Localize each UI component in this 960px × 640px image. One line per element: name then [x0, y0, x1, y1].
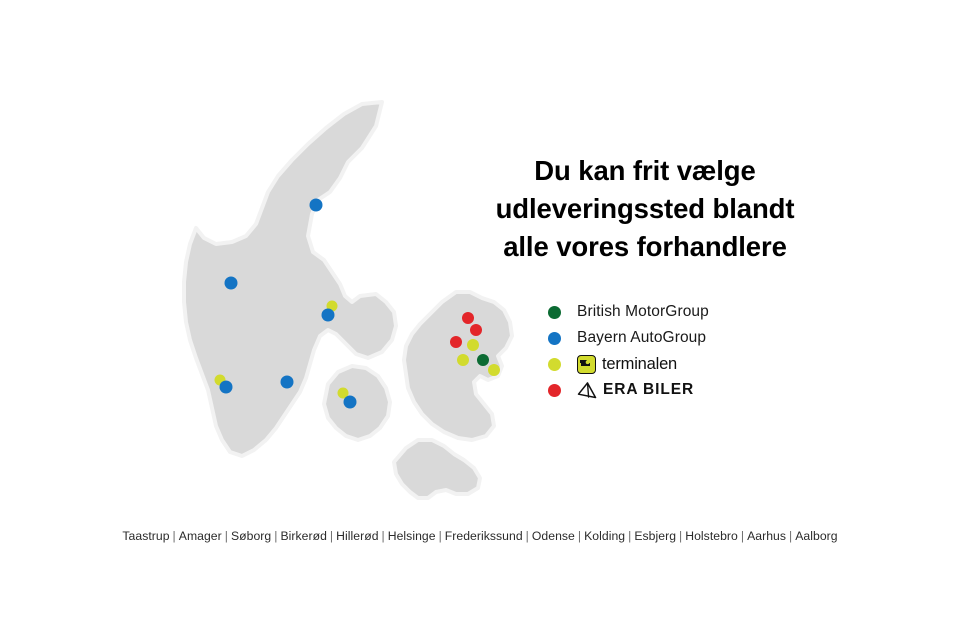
- headline-line-2: udleveringssted blandt: [470, 190, 820, 228]
- legend-item-era-biler[interactable]: ERA BILER: [548, 377, 808, 403]
- map-marker-birkeroed[interactable]: [467, 339, 479, 351]
- city-name: Helsinge: [388, 529, 436, 543]
- city-name: Holstebro: [685, 529, 738, 543]
- city-separator: |: [327, 529, 336, 543]
- legend-item-british-motorgroup[interactable]: British MotorGroup: [548, 299, 808, 325]
- headline-line-3: alle vores forhandlere: [470, 228, 820, 266]
- city-name: Taastrup: [122, 529, 169, 543]
- city-separator: |: [575, 529, 584, 543]
- map-marker-esbjerg-bayern[interactable]: [220, 381, 233, 394]
- city-name: Søborg: [231, 529, 271, 543]
- map-marker-soeborg[interactable]: [457, 354, 469, 366]
- map-marker-holstebro[interactable]: [225, 277, 238, 290]
- map-marker-amager[interactable]: [488, 364, 500, 376]
- city-name: Birkerød: [280, 529, 326, 543]
- map-marker-hilleroed[interactable]: [470, 324, 482, 336]
- legend-label-bayern-autogroup: Bayern AutoGroup: [577, 329, 706, 347]
- legend-label-british-motorgroup: British MotorGroup: [577, 303, 709, 321]
- denmark-map: [180, 96, 520, 508]
- legend-swatch-british-motorgroup: [548, 306, 561, 319]
- era-biler-wordmark: ERA BILER: [603, 381, 694, 399]
- era-biler-logo: ERA BILER: [577, 381, 694, 399]
- city-name: Esbjerg: [634, 529, 676, 543]
- city-separator: |: [523, 529, 532, 543]
- city-name: Hillerød: [336, 529, 378, 543]
- infographic-canvas: Du kan frit vælge udleveringssted blandt…: [0, 0, 960, 640]
- map-marker-helsinge[interactable]: [462, 312, 474, 324]
- landmass-lolland-falster: [394, 440, 480, 498]
- map-landmasses: [184, 102, 512, 498]
- city-name: Aalborg: [795, 529, 837, 543]
- city-separator: |: [786, 529, 795, 543]
- terminalen-mark-icon: [577, 355, 596, 374]
- headline: Du kan frit vælge udleveringssted blandt…: [470, 152, 820, 266]
- map-marker-aarhus-bayern[interactable]: [322, 309, 335, 322]
- legend-item-bayern-autogroup[interactable]: Bayern AutoGroup: [548, 325, 808, 351]
- legend-item-terminalen[interactable]: terminalen: [548, 351, 808, 377]
- terminalen-logo: terminalen: [577, 355, 677, 374]
- city-name: Amager: [179, 529, 222, 543]
- city-separator: |: [170, 529, 179, 543]
- legend-swatch-era-biler: [548, 384, 561, 397]
- era-biler-triangle-icon: [577, 382, 597, 399]
- city-separator: |: [222, 529, 231, 543]
- landmass-funen: [324, 366, 390, 440]
- city-name: Aarhus: [747, 529, 786, 543]
- map-marker-frederikssund[interactable]: [450, 336, 462, 348]
- city-separator: |: [625, 529, 634, 543]
- map-marker-taastrup[interactable]: [477, 354, 489, 366]
- map-marker-aalborg[interactable]: [310, 199, 323, 212]
- city-list: Taastrup|Amager|Søborg|Birkerød|Hillerød…: [0, 529, 960, 543]
- map-marker-kolding[interactable]: [281, 376, 294, 389]
- legend-swatch-terminalen: [548, 358, 561, 371]
- brand-legend: British MotorGroup Bayern AutoGroup term…: [548, 299, 808, 403]
- map-marker-odense-bayern[interactable]: [344, 396, 357, 409]
- city-name: Kolding: [584, 529, 625, 543]
- city-name: Frederikssund: [445, 529, 523, 543]
- denmark-map-svg: [180, 96, 520, 508]
- city-separator: |: [738, 529, 747, 543]
- headline-line-1: Du kan frit vælge: [470, 152, 820, 190]
- city-name: Odense: [532, 529, 575, 543]
- city-separator: |: [379, 529, 388, 543]
- city-separator: |: [436, 529, 445, 543]
- city-separator: |: [676, 529, 685, 543]
- terminalen-wordmark: terminalen: [602, 355, 677, 374]
- legend-swatch-bayern-autogroup: [548, 332, 561, 345]
